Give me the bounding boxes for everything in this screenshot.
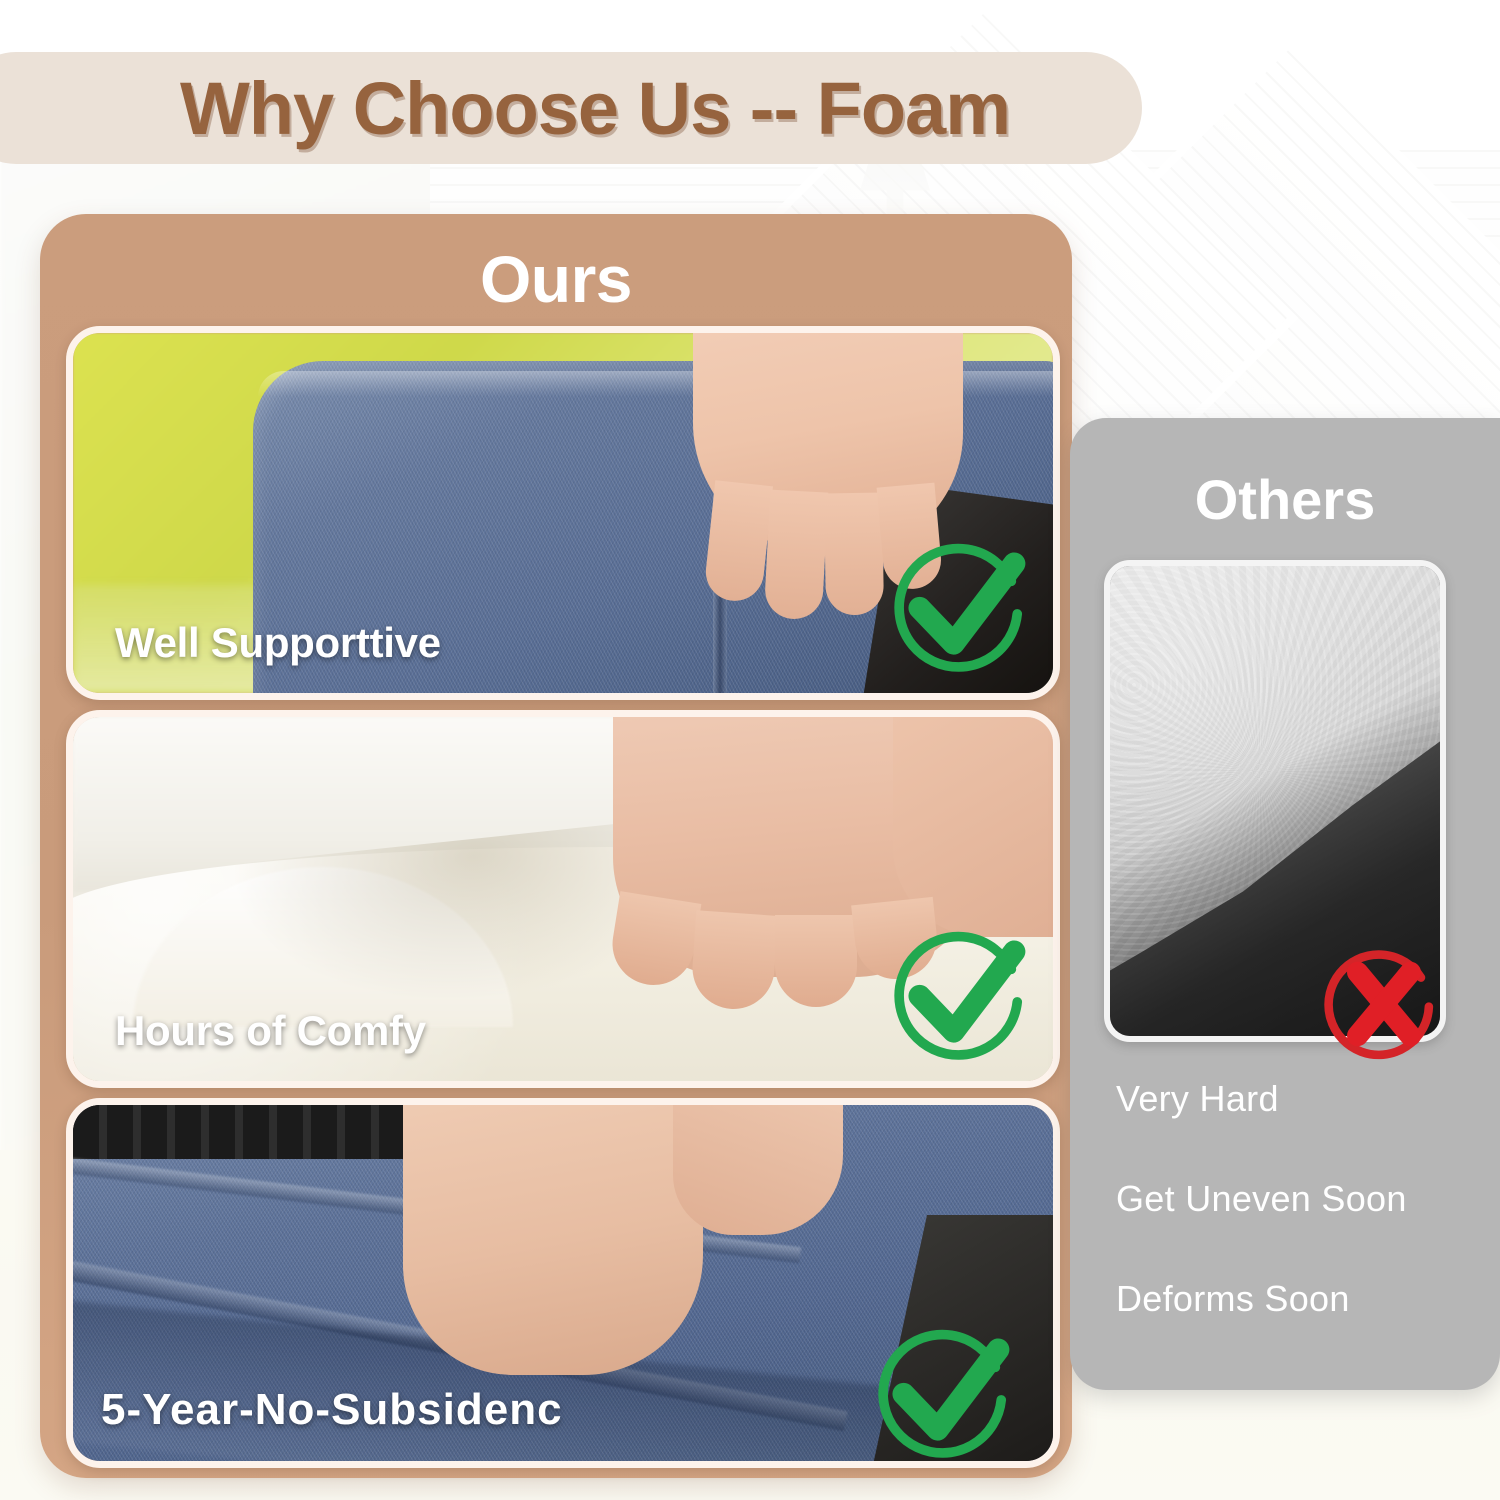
list-item: Very Hard	[1116, 1078, 1476, 1120]
green-check-icon	[887, 531, 1035, 679]
others-panel: Others Very Hard Get Uneven Soon Deforms…	[1070, 418, 1500, 1390]
red-cross-icon	[1318, 938, 1450, 1070]
list-item: Get Uneven Soon	[1116, 1178, 1476, 1220]
feature-caption-2: Hours of Comfy	[115, 1007, 426, 1055]
ours-feature-card-1[interactable]: Well Supporttive	[66, 326, 1060, 700]
list-item: Deforms Soon	[1116, 1278, 1476, 1320]
ours-feature-card-2[interactable]: Hours of Comfy	[66, 710, 1060, 1088]
feature-caption-1: Well Supporttive	[115, 619, 441, 667]
ours-panel: Ours Well Supporttive	[40, 214, 1072, 1478]
feature-caption-3: 5-Year-No-Subsidenc	[101, 1385, 563, 1435]
others-heading: Others	[1070, 466, 1500, 532]
others-drawback-list: Very Hard Get Uneven Soon Deforms Soon	[1116, 1078, 1476, 1378]
infographic-canvas: Why Choose Us -- Foam Ours Well Supportt…	[0, 0, 1500, 1500]
ours-feature-card-3[interactable]: 5-Year-No-Subsidenc	[66, 1098, 1060, 1468]
green-check-icon	[887, 919, 1035, 1067]
ours-heading: Ours	[40, 238, 1072, 320]
page-title: Why Choose Us -- Foam	[60, 54, 1130, 162]
green-check-icon	[871, 1317, 1019, 1465]
